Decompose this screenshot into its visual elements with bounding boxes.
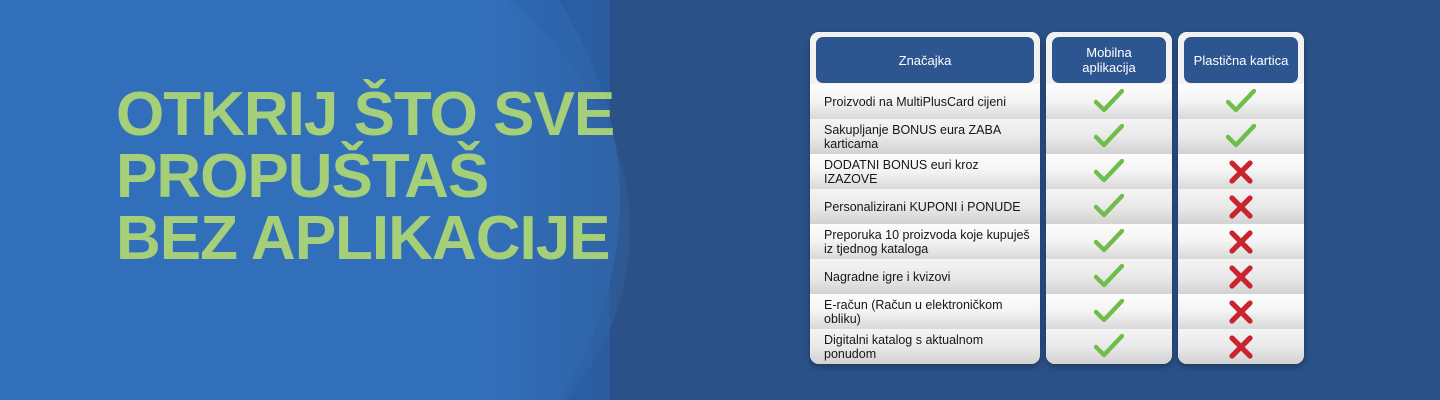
check-icon bbox=[1094, 194, 1124, 220]
check-icon bbox=[1226, 124, 1256, 150]
table-row-mark bbox=[1178, 259, 1304, 294]
table-row-mark bbox=[1178, 154, 1304, 189]
check-icon bbox=[1094, 229, 1124, 255]
cross-icon bbox=[1228, 334, 1254, 360]
column-header-mobile: Mobilna aplikacija bbox=[1046, 32, 1172, 84]
table-row-mark bbox=[1046, 224, 1172, 259]
cross-icon bbox=[1228, 229, 1254, 255]
table-row-mark bbox=[1046, 154, 1172, 189]
cross-icon bbox=[1228, 299, 1254, 325]
cross-icon bbox=[1228, 264, 1254, 290]
table-row-label: Digitalni katalog s aktualnom ponudom bbox=[810, 329, 1040, 364]
table-row-mark bbox=[1046, 189, 1172, 224]
check-icon bbox=[1094, 159, 1124, 185]
table-column-feature: ZnačajkaProizvodi na MultiPlusCard cijen… bbox=[810, 32, 1040, 364]
table-column-card: Plastična kartica bbox=[1178, 32, 1304, 364]
table-row-mark bbox=[1046, 84, 1172, 119]
column-body-card bbox=[1178, 84, 1304, 364]
check-icon bbox=[1094, 124, 1124, 150]
column-header-card: Plastična kartica bbox=[1178, 32, 1304, 84]
check-icon bbox=[1094, 264, 1124, 290]
promo-banner: OTKRIJ ŠTO SVE PROPUŠTAŠ BEZ APLIKACIJE … bbox=[0, 0, 1440, 400]
table-row-label: Personalizirani KUPONI i PONUDE bbox=[810, 189, 1040, 224]
table-row-mark bbox=[1046, 294, 1172, 329]
table-row-label: Nagradne igre i kvizovi bbox=[810, 259, 1040, 294]
table-column-mobile: Mobilna aplikacija bbox=[1046, 32, 1172, 364]
table-row-mark bbox=[1178, 84, 1304, 119]
headline-line-1: OTKRIJ ŠTO SVE bbox=[116, 84, 614, 146]
cross-icon bbox=[1228, 159, 1254, 185]
table-row-mark bbox=[1178, 189, 1304, 224]
check-icon bbox=[1094, 89, 1124, 115]
check-icon bbox=[1094, 334, 1124, 360]
table-row-label: Sakupljanje BONUS eura ZABA karticama bbox=[810, 119, 1040, 154]
table-row-mark bbox=[1178, 224, 1304, 259]
headline-line-3: BEZ APLIKACIJE bbox=[116, 208, 614, 270]
check-icon bbox=[1094, 299, 1124, 325]
column-body-mobile bbox=[1046, 84, 1172, 364]
headline-line-2: PROPUŠTAŠ bbox=[116, 146, 614, 208]
table-row-label: DODATNI BONUS euri kroz IZAZOVE bbox=[810, 154, 1040, 189]
column-body-feature: Proizvodi na MultiPlusCard cijeniSakuplj… bbox=[810, 84, 1040, 364]
column-header-pill-card: Plastična kartica bbox=[1184, 37, 1298, 83]
column-header-pill-mobile: Mobilna aplikacija bbox=[1052, 37, 1166, 83]
table-row-label: E-račun (Račun u elektroničkom obliku) bbox=[810, 294, 1040, 329]
table-row-label: Preporuka 10 proizvoda koje kupuješ iz t… bbox=[810, 224, 1040, 259]
column-header-pill-feature: Značajka bbox=[816, 37, 1034, 83]
table-row-mark bbox=[1178, 329, 1304, 364]
table-row-mark bbox=[1046, 329, 1172, 364]
headline: OTKRIJ ŠTO SVE PROPUŠTAŠ BEZ APLIKACIJE bbox=[116, 84, 614, 270]
comparison-table: ZnačajkaProizvodi na MultiPlusCard cijen… bbox=[810, 32, 1310, 364]
table-row-mark bbox=[1178, 119, 1304, 154]
cross-icon bbox=[1228, 194, 1254, 220]
table-row-mark bbox=[1046, 119, 1172, 154]
table-row-mark bbox=[1046, 259, 1172, 294]
check-icon bbox=[1226, 89, 1256, 115]
table-row-mark bbox=[1178, 294, 1304, 329]
column-header-feature: Značajka bbox=[810, 32, 1040, 84]
table-row-label: Proizvodi na MultiPlusCard cijeni bbox=[810, 84, 1040, 119]
